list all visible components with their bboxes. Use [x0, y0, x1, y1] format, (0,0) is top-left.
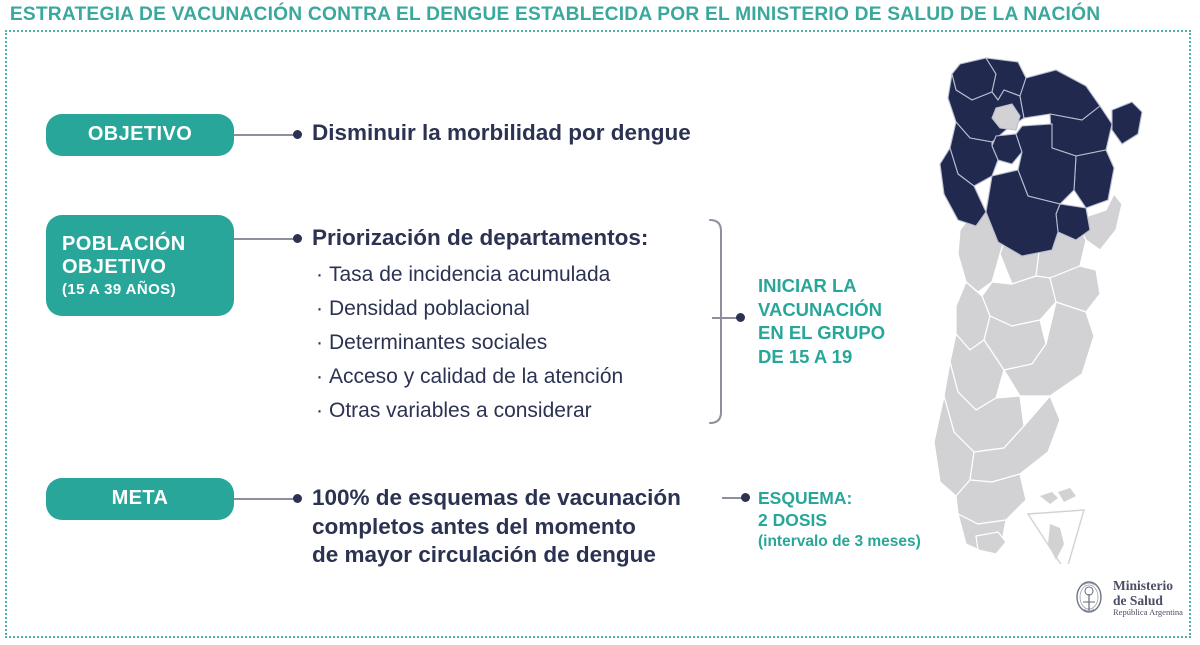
note-line: ESQUEMA:: [758, 487, 921, 509]
ministry-line2: de Salud: [1113, 593, 1183, 608]
meta-statement-line: 100% de esquemas de vacunación: [312, 484, 681, 513]
argentina-map: [900, 44, 1160, 564]
bullet-icon: ·: [316, 326, 329, 360]
pill-objetivo-label: OBJETIVO: [88, 123, 192, 146]
list-item-label: Tasa de incidencia acumulada: [329, 263, 610, 286]
ministry-text: Ministerio de Salud República Argentina: [1113, 578, 1183, 618]
pill-meta: META: [46, 478, 234, 520]
connector-dot-meta: [293, 494, 302, 503]
note-line: DE 15 A 19: [758, 345, 885, 369]
list-item-label: Determinantes sociales: [329, 331, 547, 354]
poblacion-heading: Priorización de departamentos:: [312, 224, 648, 253]
meta-statement-line: completos antes del momento: [312, 513, 681, 542]
note-esquema: ESQUEMA: 2 DOSIS (intervalo de 3 meses): [758, 487, 921, 552]
infographic-page: ESTRATEGIA DE VACUNACIÓN CONTRA EL DENGU…: [0, 0, 1200, 645]
pill-objetivo: OBJETIVO: [46, 114, 234, 156]
meta-statement: 100% de esquemas de vacunación completos…: [312, 484, 681, 570]
bullet-icon: ·: [316, 292, 329, 326]
list-item: ·Acceso y calidad de la atención: [316, 360, 623, 394]
page-title: ESTRATEGIA DE VACUNACIÓN CONTRA EL DENGU…: [0, 3, 1100, 26]
connector-objetivo: [234, 134, 296, 136]
ministry-line1: Ministerio: [1113, 578, 1183, 593]
pill-poblacion-line3: (15 A 39 AÑOS): [62, 281, 176, 298]
bullet-icon: ·: [316, 258, 329, 292]
objetivo-statement: Disminuir la morbilidad por dengue: [312, 119, 691, 148]
bullet-icon: ·: [316, 360, 329, 394]
pill-poblacion-line1: POBLACIÓN: [62, 233, 186, 256]
ministry-logo: Ministerio de Salud República Argentina: [1072, 578, 1183, 618]
connector-dot-esquema: [741, 493, 750, 502]
note-line: VACUNACIÓN: [758, 298, 885, 322]
pill-meta-label: META: [112, 487, 169, 510]
connector-meta: [234, 498, 296, 500]
list-item: ·Determinantes sociales: [316, 326, 623, 360]
list-item-label: Otras variables a considerar: [329, 399, 592, 422]
map-islands: [1040, 488, 1076, 504]
connector-dot-poblacion: [293, 234, 302, 243]
note-line: INICIAR LA: [758, 274, 885, 298]
bullet-icon: ·: [316, 394, 329, 428]
note-sub: (intervalo de 3 meses): [758, 532, 921, 552]
connector-dot-iniciar: [736, 313, 745, 322]
pill-poblacion-objetivo: POBLACIÓN OBJETIVO (15 A 39 AÑOS): [46, 215, 234, 316]
map-antarctic-sector: [1028, 510, 1084, 564]
list-item-label: Acceso y calidad de la atención: [329, 365, 623, 388]
note-iniciar-vacunacion: INICIAR LA VACUNACIÓN EN EL GRUPO DE 15 …: [758, 274, 885, 369]
header-bar: ESTRATEGIA DE VACUNACIÓN CONTRA EL DENGU…: [0, 0, 1200, 28]
argentina-coat-of-arms-icon: [1072, 578, 1106, 618]
list-item: ·Otras variables a considerar: [316, 394, 623, 428]
list-item-label: Densidad poblacional: [329, 297, 530, 320]
bracket-stem: [712, 317, 738, 319]
priorizacion-list: ·Tasa de incidencia acumulada ·Densidad …: [316, 258, 623, 428]
connector-dot-objetivo: [293, 130, 302, 139]
pill-poblacion-line2: OBJETIVO: [62, 256, 166, 279]
note-line: 2 DOSIS: [758, 509, 921, 531]
group-bracket: [706, 219, 728, 424]
meta-statement-line: de mayor circulación de dengue: [312, 541, 681, 570]
ministry-line3: República Argentina: [1113, 608, 1183, 618]
list-item: ·Tasa de incidencia acumulada: [316, 258, 623, 292]
note-line: EN EL GRUPO: [758, 321, 885, 345]
connector-poblacion: [234, 238, 296, 240]
list-item: ·Densidad poblacional: [316, 292, 623, 326]
